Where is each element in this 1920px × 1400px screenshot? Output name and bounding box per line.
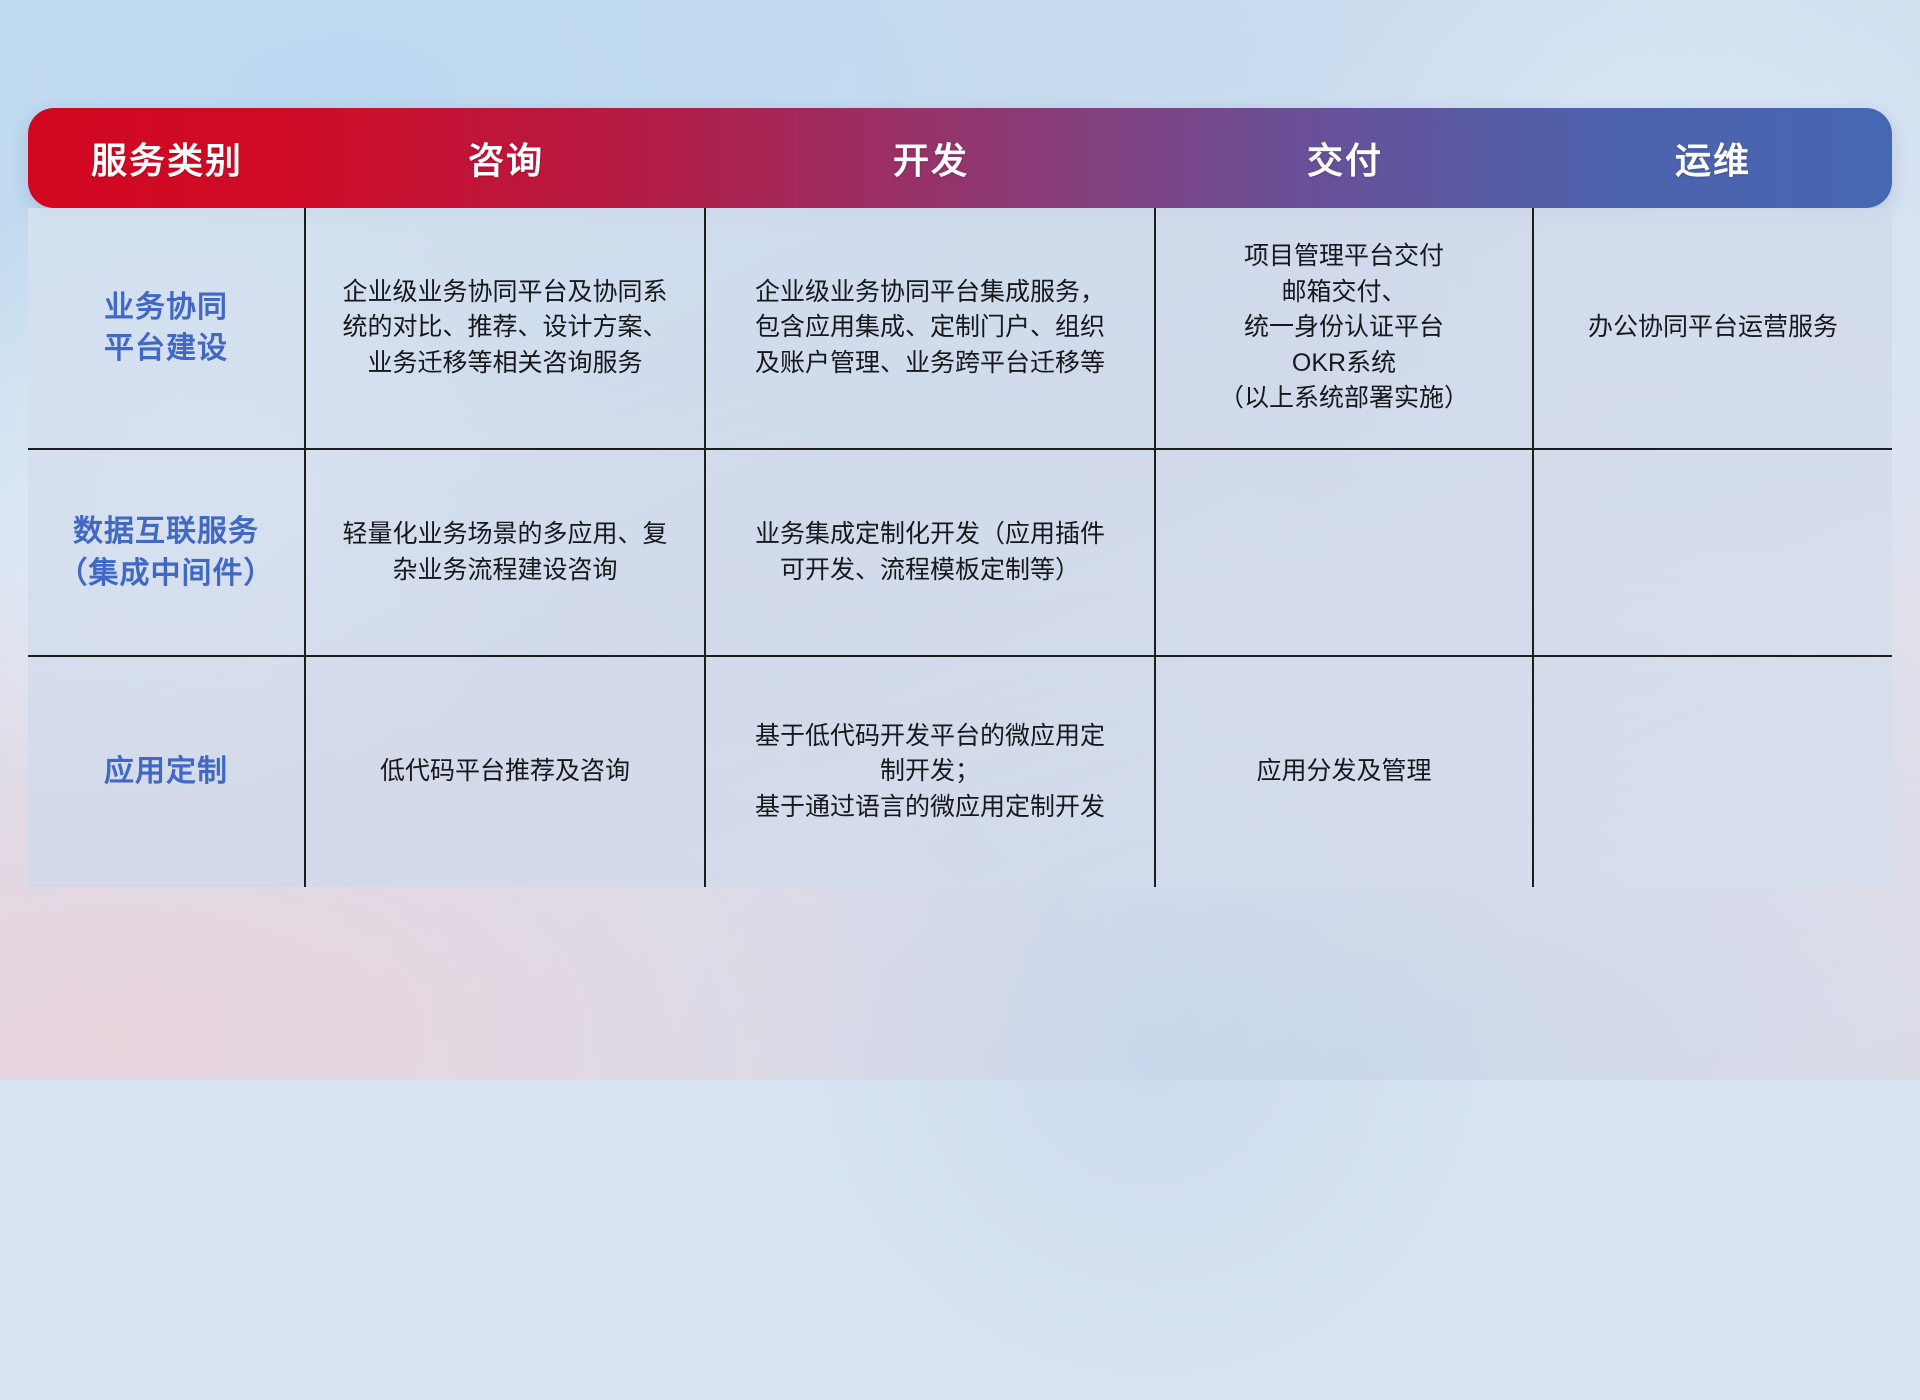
service-matrix-table: 服务类别 咨询 开发 交付 运维 业务协同 平台建设 企业级业务协同平台及协同系… xyxy=(28,108,1892,887)
cell-development-row-3: 基于低代码开发平台的微应用定 制开发； 基于通过语言的微应用定制开发 xyxy=(706,657,1156,887)
cell-delivery-row-1: 项目管理平台交付 邮箱交付、 统一身份认证平台 OKR系统 （以上系统部署实施） xyxy=(1156,208,1534,448)
cell-operations-row-3 xyxy=(1534,657,1892,887)
column-header-operations: 运维 xyxy=(1534,108,1892,208)
table-header-row: 服务类别 咨询 开发 交付 运维 xyxy=(28,108,1892,208)
cell-operations-row-1: 办公协同平台运营服务 xyxy=(1534,208,1892,448)
cell-delivery-row-3: 应用分发及管理 xyxy=(1156,657,1534,887)
table-row: 数据互联服务 （集成中间件） 轻量化业务场景的多应用、复 杂业务流程建设咨询 业… xyxy=(28,450,1892,657)
column-header-category: 服务类别 xyxy=(28,108,306,208)
cell-delivery-row-2 xyxy=(1156,450,1534,655)
cell-consulting-row-1: 企业级业务协同平台及协同系 统的对比、推荐、设计方案、 业务迁移等相关咨询服务 xyxy=(306,208,706,448)
table-row: 业务协同 平台建设 企业级业务协同平台及协同系 统的对比、推荐、设计方案、 业务… xyxy=(28,208,1892,450)
cell-consulting-row-3: 低代码平台推荐及咨询 xyxy=(306,657,706,887)
table-body: 业务协同 平台建设 企业级业务协同平台及协同系 统的对比、推荐、设计方案、 业务… xyxy=(28,208,1892,887)
cell-operations-row-2 xyxy=(1534,450,1892,655)
table-row: 应用定制 低代码平台推荐及咨询 基于低代码开发平台的微应用定 制开发； 基于通过… xyxy=(28,657,1892,887)
column-header-development: 开发 xyxy=(706,108,1156,208)
column-header-delivery: 交付 xyxy=(1156,108,1534,208)
row-label-application-customization: 应用定制 xyxy=(28,657,306,887)
cell-development-row-1: 企业级业务协同平台集成服务， 包含应用集成、定制门户、组织 及账户管理、业务跨平… xyxy=(706,208,1156,448)
cell-development-row-2: 业务集成定制化开发（应用插件 可开发、流程模板定制等） xyxy=(706,450,1156,655)
column-header-consulting: 咨询 xyxy=(306,108,706,208)
cell-consulting-row-2: 轻量化业务场景的多应用、复 杂业务流程建设咨询 xyxy=(306,450,706,655)
row-label-data-integration: 数据互联服务 （集成中间件） xyxy=(28,450,306,655)
row-label-business-collaboration: 业务协同 平台建设 xyxy=(28,208,306,448)
